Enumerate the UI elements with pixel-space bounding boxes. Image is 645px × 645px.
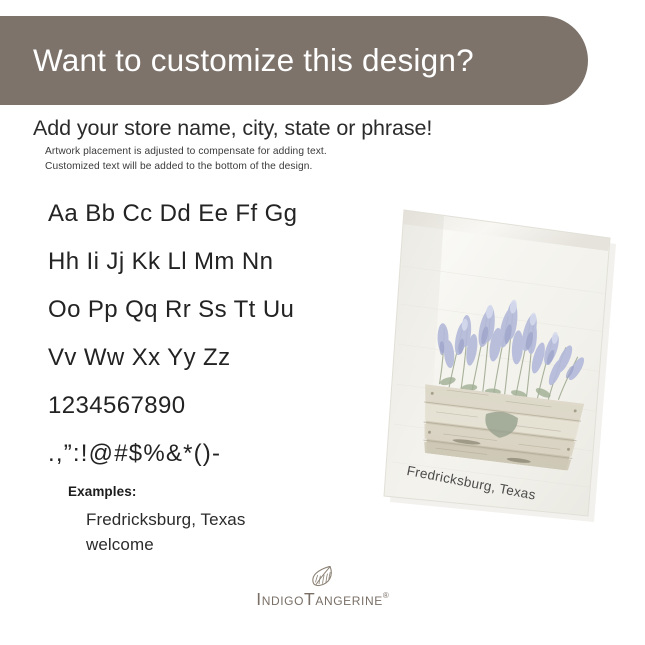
logo-word-indigo: Indigo (256, 589, 304, 609)
logo-wordmark: IndigoTangerine® (256, 589, 388, 610)
brand-logo: IndigoTangerine® (0, 566, 645, 610)
specimen-row-uppercase-v-z: Vv Ww Xx Yy Zz (48, 334, 378, 382)
example-item-welcome: welcome (86, 532, 245, 557)
registered-trademark-icon: ® (383, 591, 389, 600)
intro-note-line-2: Customized text will be added to the bot… (45, 161, 312, 172)
specimen-row-numerals: 1234567890 (48, 382, 378, 430)
header-banner: Want to customize this design? (0, 16, 588, 105)
logo-word-tangerine: Tangerine (304, 589, 383, 609)
leaf-icon (306, 566, 340, 588)
intro-note-line-1: Artwork placement is adjusted to compens… (45, 146, 327, 157)
examples-block: Examples: Fredricksburg, Texas welcome (68, 484, 245, 557)
product-photo-tea-towel: Fredricksburg, Texas (374, 196, 632, 556)
intro-heading: Add your store name, city, state or phra… (33, 116, 432, 141)
examples-label: Examples: (68, 484, 245, 499)
specimen-row-uppercase-a-g: Aa Bb Cc Dd Ee Ff Gg (48, 190, 378, 238)
font-specimen: Aa Bb Cc Dd Ee Ff Gg Hh Ii Jj Kk Ll Mm N… (48, 190, 378, 478)
page-title: Want to customize this design? (33, 41, 474, 78)
customization-info-graphic: Want to customize this design? Add your … (0, 0, 645, 645)
specimen-row-punctuation: .,”:!@#$%&*()- (48, 430, 378, 478)
specimen-row-uppercase-h-n: Hh Ii Jj Kk Ll Mm Nn (48, 238, 378, 286)
example-item-city-state: Fredricksburg, Texas (86, 507, 245, 532)
specimen-row-uppercase-o-u: Oo Pp Qq Rr Ss Tt Uu (48, 286, 378, 334)
tea-towel-illustration: Fredricksburg, Texas (374, 196, 632, 556)
